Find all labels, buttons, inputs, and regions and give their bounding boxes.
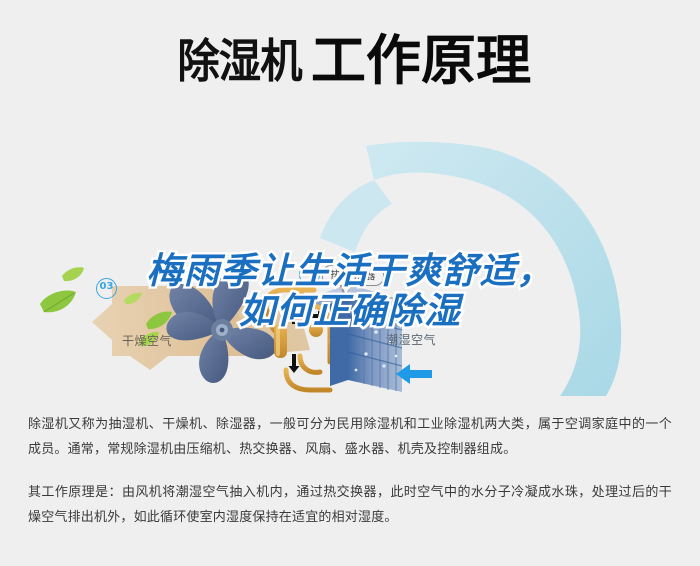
- page-title-primary: 除湿机: [177, 38, 301, 84]
- leaf-icon-2: [62, 267, 84, 281]
- page-title: 除湿机工作原理: [172, 34, 529, 88]
- dehumidifier-principle-diagram: 03 02 01 干燥空气 潮湿空气 热交换器 水箱 02 经过蒸发器冷凝成水珠…: [0, 118, 700, 410]
- label-dry-air: 干燥空气: [122, 332, 172, 349]
- article-paragraph-2: 其工作原理是：由风机将潮湿空气抽入机内，通过热交换器，此时空气中的水分子冷凝成水…: [28, 480, 672, 530]
- valve-icon-3: [295, 291, 305, 301]
- page-header: 除湿机工作原理: [0, 0, 700, 118]
- badge-step-03-dry-air: 03: [96, 278, 117, 299]
- valve-icon-1: [309, 323, 323, 337]
- label-humid-air: 潮湿空气: [386, 331, 436, 348]
- page-title-secondary: 工作原理: [310, 34, 530, 88]
- callout-heat-exchanger: 热交换器: [322, 265, 384, 286]
- badge-step-01-humid-air: 01: [381, 304, 402, 325]
- badge-step-02-heat-exchanger: 02: [299, 264, 320, 285]
- article-body: 除湿机又称为抽湿机、干燥机、除湿器，一般可分为民用除湿机和工业除湿机两大类，属于…: [0, 412, 700, 530]
- leaf-icon-1: [40, 291, 76, 313]
- article-paragraph-1: 除湿机又称为抽湿机、干燥机、除湿器，一般可分为民用除湿机和工业除湿机两大类，属于…: [28, 412, 672, 462]
- callout-pointer-icon: [341, 284, 351, 295]
- diagram-illustration: [0, 118, 700, 410]
- accumulator-icon: [274, 324, 287, 358]
